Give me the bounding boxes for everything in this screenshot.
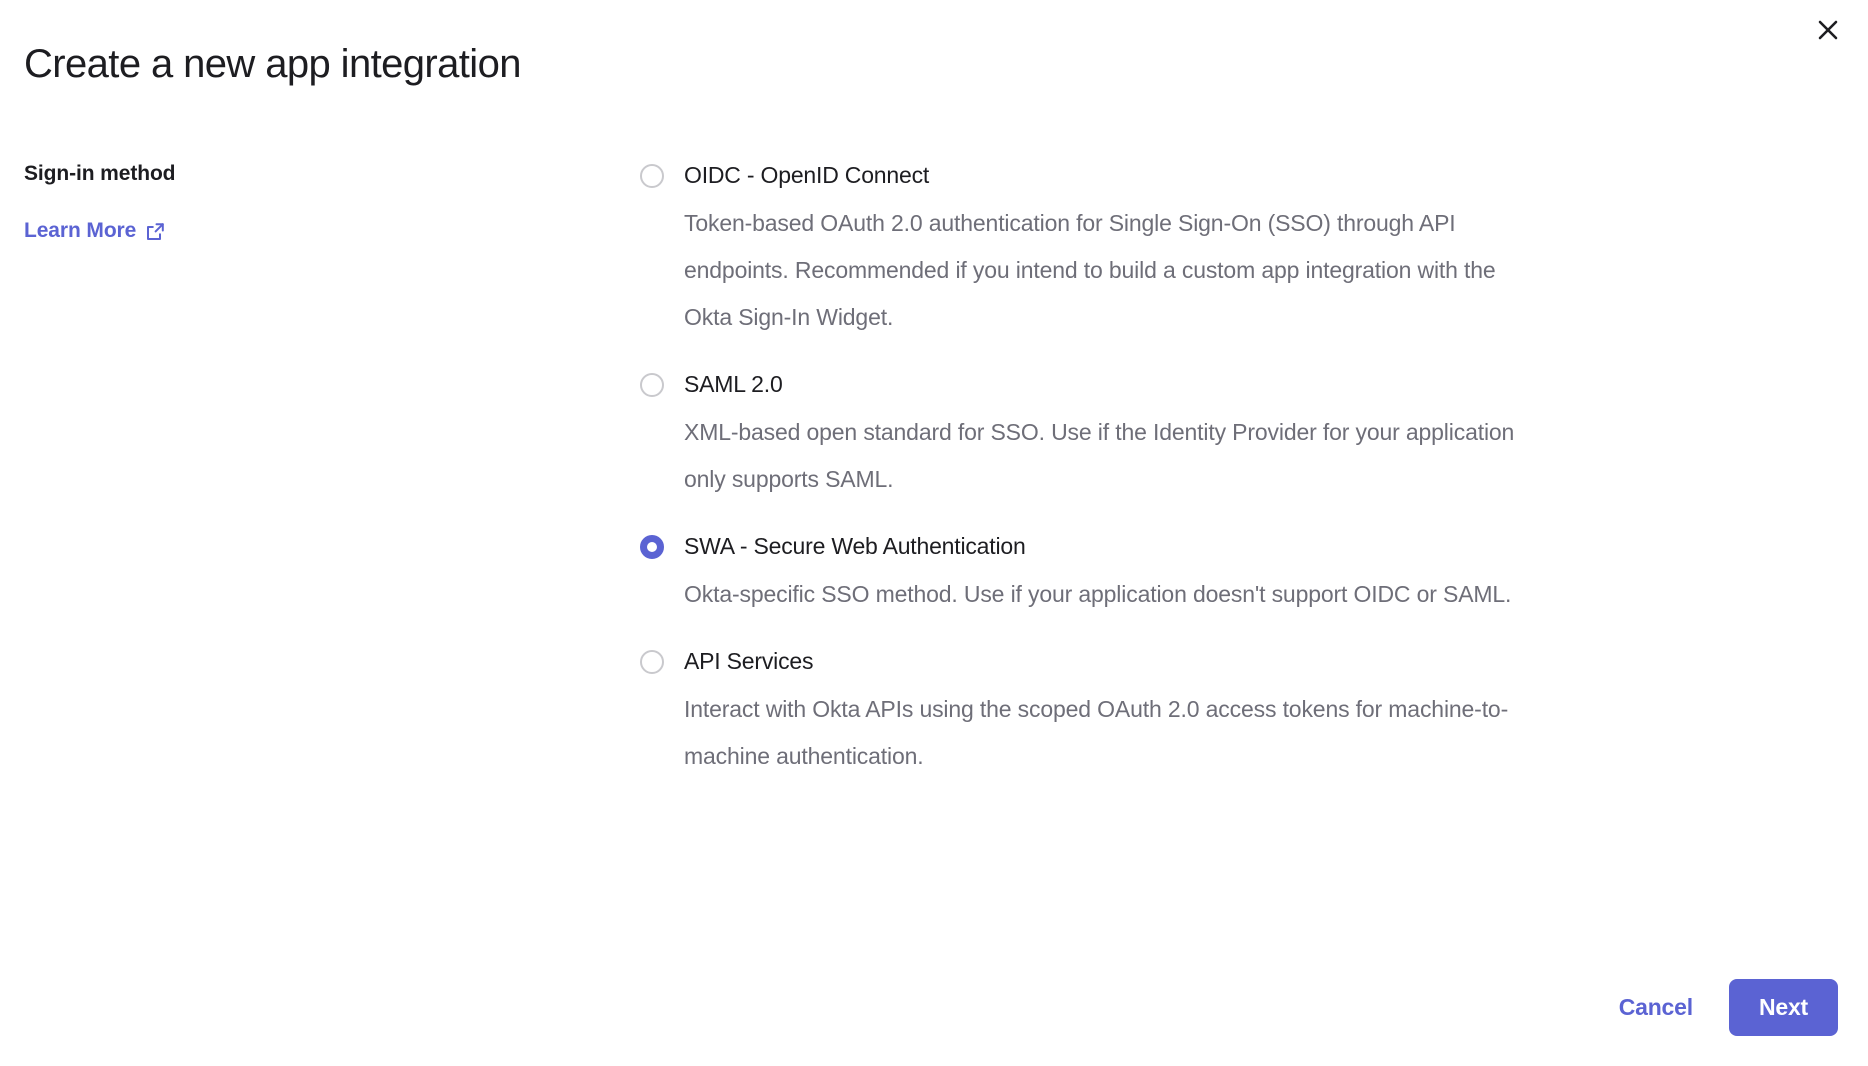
page-title: Create a new app integration — [24, 38, 521, 90]
radio-option-api-services[interactable]: API Services Interact with Okta APIs usi… — [640, 646, 1530, 780]
radio-option-saml[interactable]: SAML 2.0 XML-based open standard for SSO… — [640, 369, 1530, 503]
dialog-footer: Cancel Next — [1597, 979, 1838, 1036]
radio-title-saml: SAML 2.0 — [684, 369, 1530, 399]
radio-mark-saml[interactable] — [640, 373, 664, 397]
left-column: Sign-in method Learn More — [0, 160, 640, 245]
radio-title-swa: SWA - Secure Web Authentication — [684, 531, 1530, 561]
radio-description-oidc: Token-based OAuth 2.0 authentication for… — [684, 200, 1530, 341]
dialog-body: Sign-in method Learn More OIDC - OpenID … — [0, 160, 1868, 780]
radio-mark-api-services[interactable] — [640, 650, 664, 674]
radio-mark-oidc[interactable] — [640, 164, 664, 188]
radio-title-api-services: API Services — [684, 646, 1530, 676]
radio-option-swa[interactable]: SWA - Secure Web Authentication Okta-spe… — [640, 531, 1530, 618]
radio-title-oidc: OIDC - OpenID Connect — [684, 160, 1530, 190]
radio-description-saml: XML-based open standard for SSO. Use if … — [684, 409, 1530, 503]
create-app-integration-dialog: Create a new app integration Sign-in met… — [0, 0, 1868, 1066]
sign-in-method-label: Sign-in method — [24, 160, 640, 188]
radio-option-oidc[interactable]: OIDC - OpenID Connect Token-based OAuth … — [640, 160, 1530, 341]
radio-description-api-services: Interact with Okta APIs using the scoped… — [684, 686, 1530, 780]
close-icon — [1815, 17, 1841, 43]
radio-mark-swa[interactable] — [640, 535, 664, 559]
close-dialog-button[interactable] — [1806, 8, 1850, 52]
next-button[interactable]: Next — [1729, 979, 1838, 1036]
sign-in-method-radio-group: OIDC - OpenID Connect Token-based OAuth … — [640, 160, 1560, 780]
external-link-icon — [145, 220, 165, 242]
radio-description-swa: Okta-specific SSO method. Use if your ap… — [684, 571, 1530, 618]
learn-more-link[interactable]: Learn More — [24, 217, 165, 245]
learn-more-label: Learn More — [24, 217, 136, 245]
cancel-button[interactable]: Cancel — [1597, 980, 1715, 1035]
